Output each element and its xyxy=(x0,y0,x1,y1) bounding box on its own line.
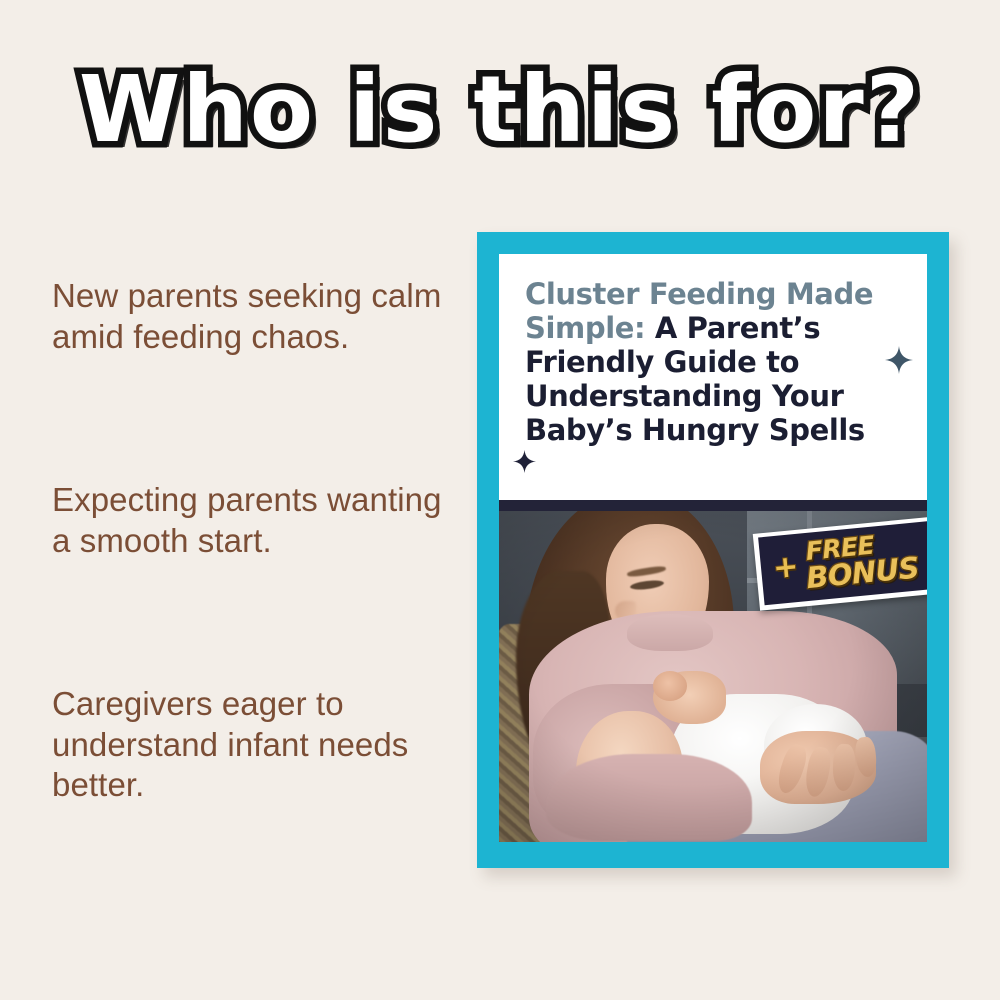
book-cover: Cluster Feeding Made Simple: A Parent’s … xyxy=(499,254,927,842)
list-item: New parents seeking calm amid feeding ch… xyxy=(52,276,452,358)
cover-photo: + FREE BONUS xyxy=(499,511,927,842)
badge-line-bonus: BONUS xyxy=(805,554,920,591)
cover-title: Cluster Feeding Made Simple: A Parent’s … xyxy=(525,278,905,448)
page-title: Who is this for? xyxy=(0,62,1000,159)
cover-title-area: Cluster Feeding Made Simple: A Parent’s … xyxy=(499,254,927,500)
list-item: Expecting parents wanting a smooth start… xyxy=(52,480,452,562)
cover-divider xyxy=(499,500,927,511)
list-item: Caregivers eager to understand infant ne… xyxy=(52,684,452,807)
book-mockup-frame: Cluster Feeding Made Simple: A Parent’s … xyxy=(477,232,949,868)
audience-list: New parents seeking calm amid feeding ch… xyxy=(52,276,452,806)
sparkle-icon xyxy=(513,450,536,473)
badge-plus-sign: + xyxy=(772,553,800,582)
